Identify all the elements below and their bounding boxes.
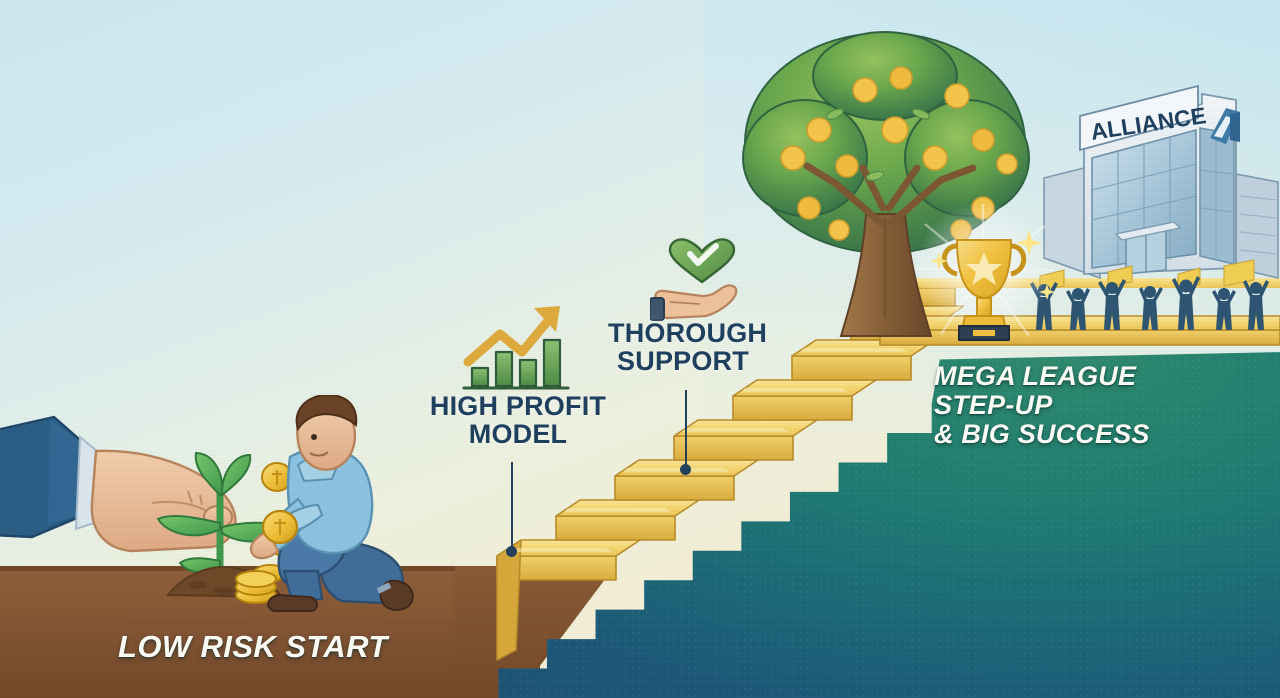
planting-scene [0,395,462,640]
label-high-profit-model: HIGH PROFIT MODEL [428,393,608,448]
label-mega-league-step-up: MEGA LEAGUE STEP-UP & BIG SUCCESS [934,362,1214,449]
leader-dot-high-profit [506,546,517,557]
label-low-risk-start: LOW RISK START [118,631,388,663]
hand-heart-check-icon [650,238,754,326]
leader-line-high-profit [511,462,513,552]
bar-chart-growth-icon [456,300,574,396]
label-thorough-support: THOROUGH SUPPORT [608,320,758,375]
leader-line-thorough [685,390,687,471]
celebrating-crowd [1028,258,1280,336]
trophy-icon [905,200,1065,350]
leader-dot-thorough [680,464,691,475]
infographic-canvas: ALLIANCE [0,0,1280,698]
